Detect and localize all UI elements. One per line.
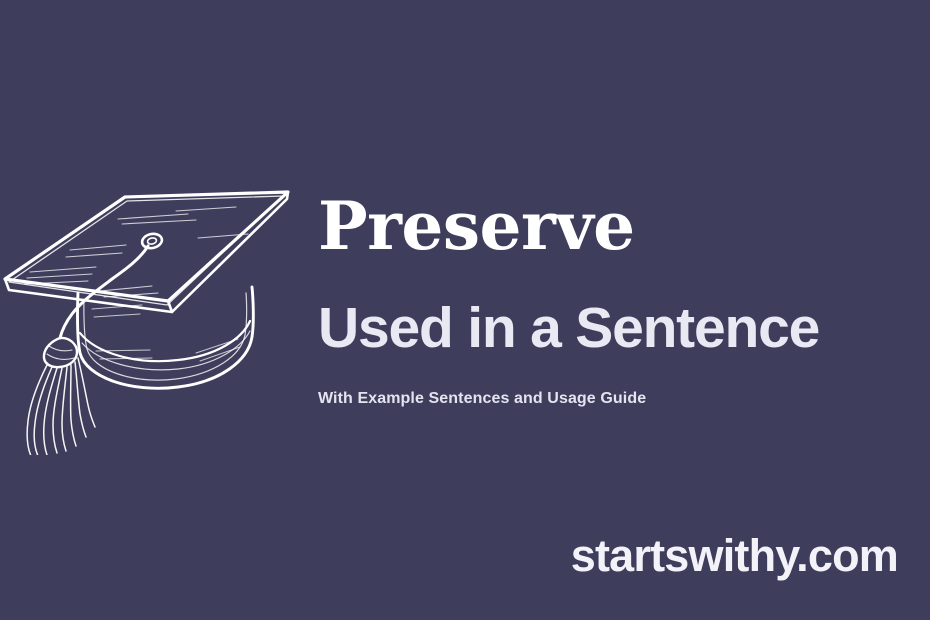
cap-board-hatching bbox=[24, 207, 248, 297]
hero-card: Preserve Used in a Sentence With Example… bbox=[0, 0, 930, 620]
tassel-knot bbox=[44, 338, 77, 367]
headword: Preserve bbox=[318, 190, 910, 262]
text-block: Preserve Used in a Sentence With Example… bbox=[318, 190, 910, 410]
subtitle: With Example Sentences and Usage Guide bbox=[318, 360, 910, 410]
tassel-cord bbox=[60, 246, 148, 338]
brand-wordmark: startswithy.com bbox=[571, 530, 898, 582]
tassel-strands bbox=[27, 358, 95, 455]
headline: Used in a Sentence bbox=[318, 262, 910, 360]
cap-band bbox=[78, 287, 254, 388]
cap-board-outline bbox=[5, 192, 288, 312]
graduation-cap-illustration bbox=[0, 175, 300, 455]
cap-button-icon bbox=[141, 232, 163, 250]
